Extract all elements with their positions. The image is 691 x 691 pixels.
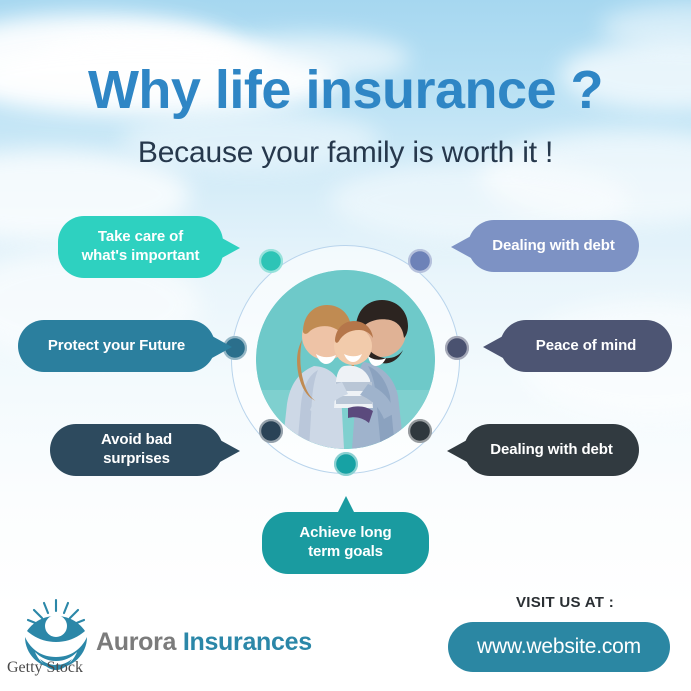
family-photo — [256, 270, 435, 449]
node-dot-achieve-goals — [334, 452, 358, 476]
brand-wordmark: Aurora Insurances — [96, 628, 312, 657]
callout-label: Take care of what's important — [82, 228, 200, 266]
callout-label: Dealing with debt — [492, 237, 614, 256]
node-dot-avoid-surprises — [259, 419, 283, 443]
node-dot-dealing-debt-1 — [408, 249, 432, 273]
bubble-tail — [447, 440, 467, 462]
node-dot-dealing-debt-2 — [408, 419, 432, 443]
callout-dealing-debt-top[interactable]: Dealing with debt — [468, 220, 639, 272]
node-dot-peace-of-mind — [445, 336, 469, 360]
callout-label: Protect your Future — [48, 337, 185, 356]
bubble-tail — [451, 236, 471, 258]
callout-dealing-debt-bottom[interactable]: Dealing with debt — [464, 424, 639, 476]
callout-label: Achieve long term goals — [299, 524, 391, 562]
page-title: Why life insurance ? — [0, 62, 691, 119]
bubble-tail — [220, 237, 240, 259]
callout-protect-future[interactable]: Protect your Future — [18, 320, 215, 372]
cloud-shape — [600, 4, 691, 50]
bubble-tail — [337, 496, 355, 514]
callout-label: Dealing with debt — [490, 441, 612, 460]
visit-us-label: VISIT US AT : — [440, 594, 690, 611]
poster-canvas: Why life insurance ? Because your family… — [0, 0, 691, 691]
page-subtitle: Because your family is worth it ! — [0, 136, 691, 169]
callout-label: Avoid bad surprises — [66, 431, 207, 469]
brand-name-part1: Aurora — [96, 628, 176, 656]
callout-peace-of-mind[interactable]: Peace of mind — [500, 320, 672, 372]
node-dot-take-care — [259, 249, 283, 273]
bubble-tail — [220, 440, 240, 462]
stock-watermark: Getty Stock — [7, 659, 83, 677]
brand-name-part2: Insurances — [183, 628, 312, 656]
bubble-tail — [483, 336, 503, 358]
callout-take-care[interactable]: Take care of what's important — [58, 216, 223, 278]
website-button[interactable]: www.website.com — [448, 622, 670, 672]
bubble-tail — [212, 336, 232, 358]
callout-label: Peace of mind — [536, 337, 636, 356]
callout-achieve-goals[interactable]: Achieve long term goals — [262, 512, 429, 574]
callout-avoid-surprises[interactable]: Avoid bad surprises — [50, 424, 223, 476]
